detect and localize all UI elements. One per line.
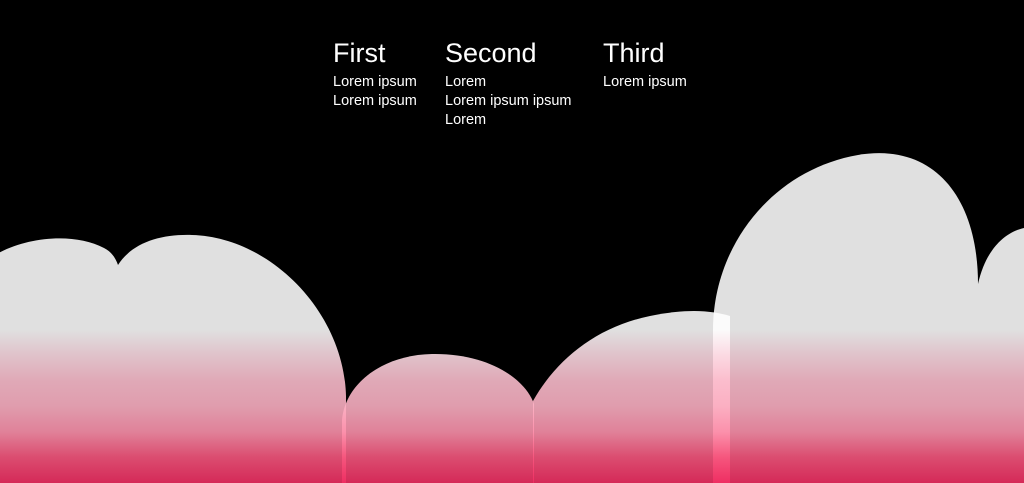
column-first-line-1: Lorem ipsum (333, 73, 445, 92)
banner-canvas: First Lorem ipsum Lorem ipsum Second Lor… (0, 0, 1024, 483)
column-second: Second Lorem Lorem ipsum ipsum Lorem (445, 38, 603, 130)
column-second-title: Second (445, 38, 603, 68)
column-third-line-1: Lorem ipsum (603, 73, 763, 92)
cloud-center-right (533, 311, 730, 483)
column-first-title: First (333, 38, 445, 68)
column-second-line-1: Lorem (445, 73, 603, 92)
cloud-left (0, 235, 346, 483)
column-first-lines: Lorem ipsum Lorem ipsum (333, 73, 445, 111)
feature-columns: First Lorem ipsum Lorem ipsum Second Lor… (333, 38, 763, 130)
column-third-lines: Lorem ipsum (603, 73, 763, 92)
column-first-line-2: Lorem ipsum (333, 92, 445, 111)
cloud-far-right (978, 228, 1024, 483)
column-second-line-2: Lorem ipsum ipsum (445, 92, 603, 111)
cloud-right-large (713, 153, 978, 483)
column-second-line-3: Lorem (445, 111, 603, 130)
cloud-center (342, 354, 534, 483)
column-first: First Lorem ipsum Lorem ipsum (333, 38, 445, 111)
column-third-title: Third (603, 38, 763, 68)
column-second-lines: Lorem Lorem ipsum ipsum Lorem (445, 73, 603, 130)
column-third: Third Lorem ipsum (603, 38, 763, 92)
